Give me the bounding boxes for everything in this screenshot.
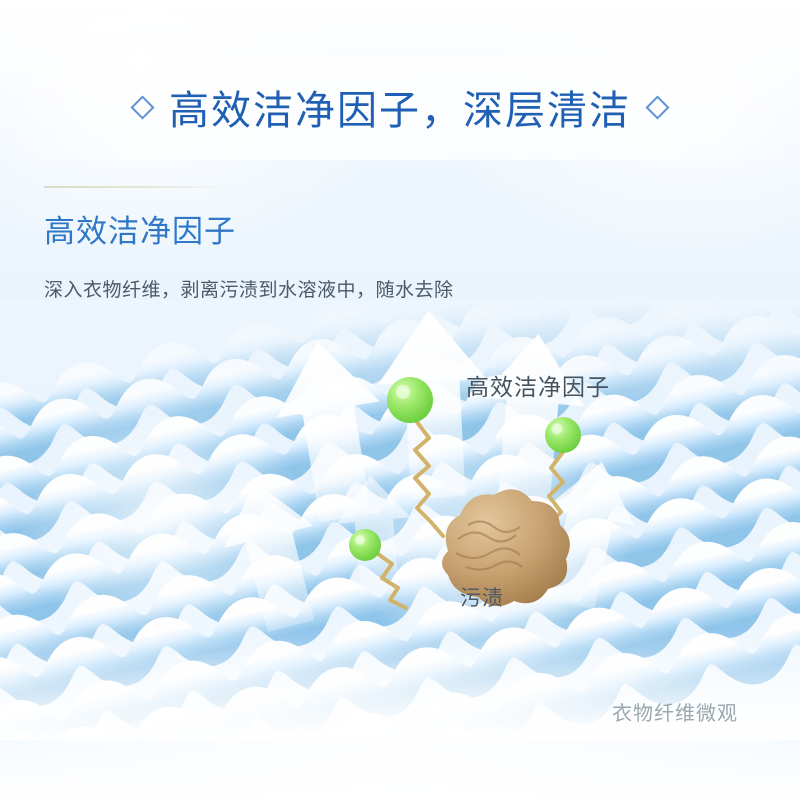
- label-stain: 污渍: [460, 582, 504, 612]
- fabric-weave-illustration: [0, 300, 800, 740]
- section-divider: [44, 186, 230, 188]
- poster-canvas: 高效洁净因子，深层清洁 高效洁净因子 深入衣物纤维，剥离污渍到水溶液中，随水去除…: [0, 0, 800, 800]
- diamond-icon-right: [645, 95, 669, 119]
- diamond-icon-left: [130, 95, 154, 119]
- page-title: 高效洁净因子，深层清洁: [169, 78, 631, 136]
- label-cleaning-factor: 高效洁净因子: [466, 368, 610, 402]
- header: 高效洁净因子，深层清洁: [0, 78, 800, 136]
- section-description: 深入衣物纤维，剥离污渍到水溶液中，随水去除: [44, 274, 474, 308]
- label-fiber-microview: 衣物纤维微观: [612, 697, 738, 726]
- section-title: 高效洁净因子: [44, 206, 236, 251]
